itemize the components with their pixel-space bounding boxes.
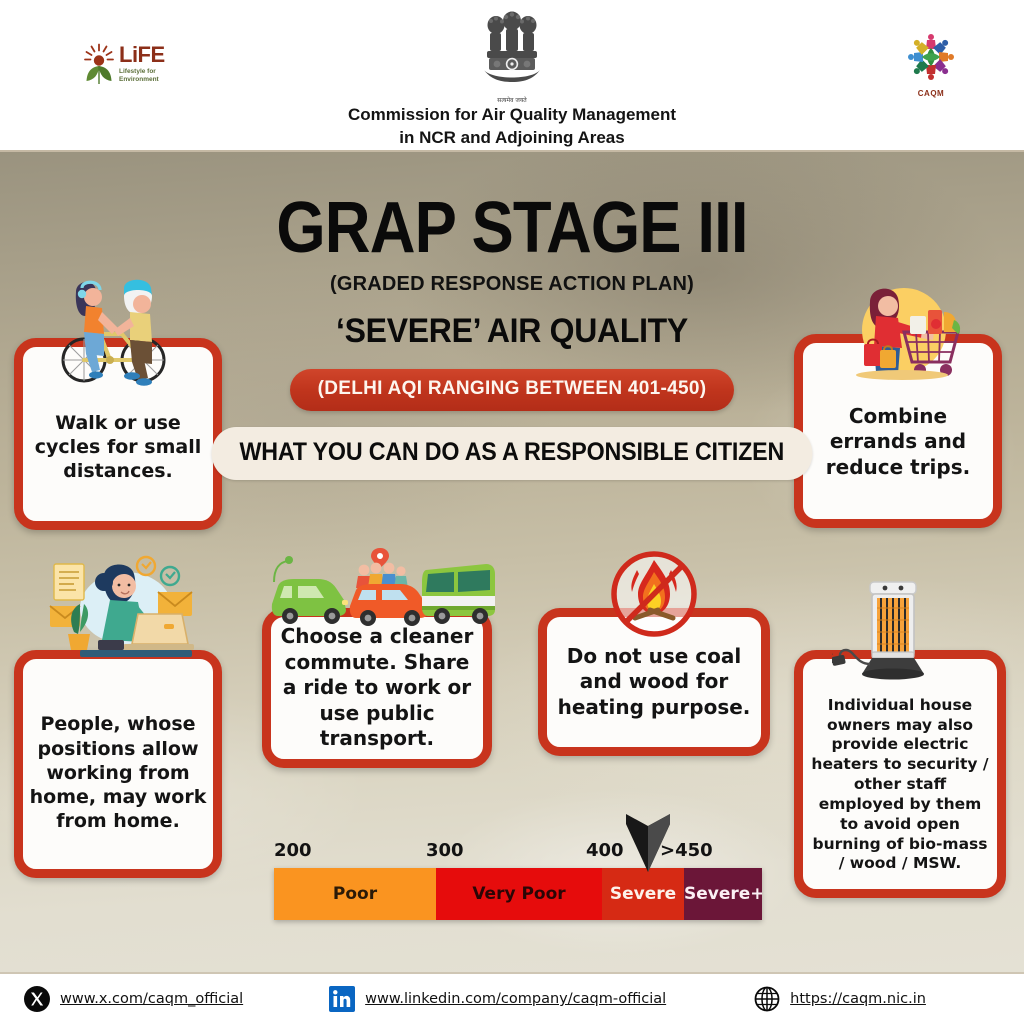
aqi-segment-very-poor: Very Poor [436,868,602,920]
footer-link-x-text: www.x.com/caqm_official [60,991,243,1007]
life-logo-title: LiFE [119,44,165,66]
aqi-tick-300: 300 [426,840,464,861]
aqi-scale-tick-labels: 200 300 400 >450 [274,840,762,866]
tip-card-electric-heaters: Individual house owners may also provide… [794,650,1006,898]
aqi-severity-scale: 200 300 400 >450 Poor Very Poor Severe S… [274,840,762,930]
footer-link-linkedin[interactable]: www.linkedin.com/company/caqm-official [329,986,666,1012]
emblem-motto: सत्यमेव जयते [476,96,548,104]
aqi-range-badge: (DELHI AQI RANGING BETWEEN 401-450) [290,369,735,411]
caqm-people-circle-icon [896,28,966,86]
x-twitter-icon [24,986,50,1012]
footer-link-linkedin-text: www.linkedin.com/company/caqm-official [365,991,666,1007]
india-national-emblem-icon [476,10,548,90]
caqm-logo: CAQM [896,28,966,102]
tip-card-work-from-home: People, whose positions allow working fr… [14,650,222,878]
footer-link-website-text: https://caqm.nic.in [790,991,926,1007]
tip-card-electric-heaters-text: Individual house owners may also provide… [803,670,997,878]
life-logo: LiFE Lifestyle for Environment [84,38,194,90]
footer-link-website[interactable]: https://caqm.nic.in [754,986,926,1012]
page-title: GRAP STAGE III [61,194,962,263]
tip-card-no-coal-wood-text: Do not use coal and wood for heating pur… [547,640,761,725]
aqi-tick-200: 200 [274,840,312,861]
aqi-segment-poor: Poor [274,868,436,920]
tip-card-cleaner-commute: Choose a cleaner commute. Share a ride t… [262,608,492,768]
life-logo-subtitle-line2: Environment [119,76,159,83]
aqi-segment-severe-plus: Severe+ [684,868,762,920]
organisation-title-line2: in NCR and Adjoining Areas [399,128,624,147]
grap-stage-3-infographic: LiFE Lifestyle for Environment [0,0,1024,1024]
footer-link-x[interactable]: www.x.com/caqm_official [24,986,243,1012]
tip-card-work-from-home-text: People, whose positions allow working fr… [23,690,213,838]
page-subtitle: (GRADED RESPONSE ACTION PLAN) [0,273,1024,296]
poster-header: LiFE Lifestyle for Environment [0,0,1024,152]
organisation-title-line1: Commission for Air Quality Management [348,105,676,124]
caqm-logo-text: CAQM [896,89,966,98]
globe-icon [754,986,780,1012]
severity-heading: ‘SEVERE’ AIR QUALITY [31,312,994,351]
india-national-emblem: सत्यमेव जयते [476,10,548,102]
organisation-title: Commission for Air Quality Management in… [0,104,1024,150]
citizen-action-banner: WHAT YOU CAN DO AS A RESPONSIBLE CITIZEN [212,427,812,480]
tip-card-cleaner-commute-text: Choose a cleaner commute. Share a ride t… [271,620,483,756]
poster-footer: www.x.com/caqm_official www.linkedin.com… [0,972,1024,1024]
aqi-scale-bar: Poor Very Poor Severe Severe+ [274,868,762,920]
aqi-tick-400: 400 [586,840,624,861]
life-sun-leaf-icon [84,43,114,85]
aqi-segment-severe: Severe [602,868,684,920]
life-logo-subtitle-line1: Lifestyle for [119,68,156,75]
linkedin-icon [329,986,355,1012]
tip-card-no-coal-wood: Do not use coal and wood for heating pur… [538,608,770,756]
hero-section: GRAP STAGE III (GRADED RESPONSE ACTION P… [0,152,1024,480]
down-arrow-marker-icon [623,812,673,874]
